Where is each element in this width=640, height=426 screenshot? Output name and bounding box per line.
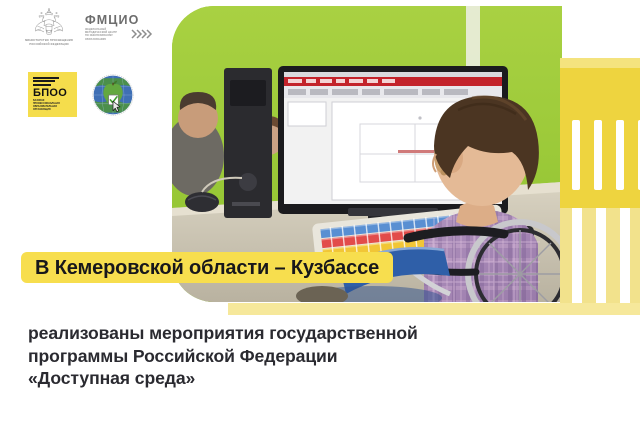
fmcio-subtitle-row: ФЕДЕРАЛЬНЫЙ МЕТОДИЧЕСКИЙ ЦЕНТР ПО ИНКЛЮЗ… xyxy=(85,28,153,41)
headline-highlight: В Кемеровской области – Кузбассе xyxy=(21,252,393,283)
fmcio-subtitle: ФЕДЕРАЛЬНЫЙ МЕТОДИЧЕСКИЙ ЦЕНТР ПО ИНКЛЮЗ… xyxy=(85,28,129,41)
body-copy: реализованы мероприятия государственной … xyxy=(28,322,588,390)
fmcio-logo: ФМЦИО ФЕДЕРАЛЬНЫЙ МЕТОДИЧЕСКИЙ ЦЕНТР ПО … xyxy=(85,8,153,41)
double-headed-eagle-emblem-icon xyxy=(29,8,69,38)
pale-yellow-band xyxy=(228,303,640,315)
globe-apple-checkbox-cursor-icon xyxy=(91,73,135,117)
bpoo-logo: БПОО БАЗОВАЯ ПРОФЕССИОНАЛЬНАЯ ОБРАЗОВАТЕ… xyxy=(28,72,77,117)
ministry-caption-line1: МИНИСТЕРСТВО ПРОСВЕЩЕНИЯ xyxy=(25,39,73,42)
logo-row-primary: МИНИСТЕРСТВО ПРОСВЕЩЕНИЯ РОССИЙСКОЙ ФЕДЕ… xyxy=(18,8,164,54)
logo-row-secondary: БПОО БАЗОВАЯ ПРОФЕССИОНАЛЬНАЯ ОБРАЗОВАТЕ… xyxy=(28,72,135,117)
body-line-2: программы Российской Федерации xyxy=(28,345,588,368)
logo-zone: МИНИСТЕРСТВО ПРОСВЕЩЕНИЯ РОССИЙСКОЙ ФЕДЕ… xyxy=(0,0,172,130)
body-line-1: реализованы мероприятия государственной xyxy=(28,322,588,345)
poster-canvas: МИНИСТЕРСТВО ПРОСВЕЩЕНИЯ РОССИЙСКОЙ ФЕДЕ… xyxy=(0,0,640,426)
bpoo-subtitle: БАЗОВАЯ ПРОФЕССИОНАЛЬНАЯ ОБРАЗОВАТЕЛЬНАЯ… xyxy=(33,100,71,112)
chevrons-right-icon xyxy=(131,28,153,40)
bpoo-subtitle-line2: ОБРАЗОВАТЕЛЬНАЯ ОРГАНИЗАЦИЯ xyxy=(33,106,71,112)
bpoo-bars-icon xyxy=(33,77,59,88)
decorative-yellow-stripes xyxy=(560,58,640,320)
ministry-logo: МИНИСТЕРСТВО ПРОСВЕЩЕНИЯ РОССИЙСКОЙ ФЕДЕ… xyxy=(18,8,80,47)
ministry-caption-line2: РОССИЙСКОЙ ФЕДЕРАЦИИ xyxy=(29,43,68,46)
fmcio-title: ФМЦИО xyxy=(85,14,153,27)
headline-text: В Кемеровской области – Кузбассе xyxy=(35,258,379,278)
yellow-comb-icon xyxy=(560,58,640,320)
bpoo-title: БПОО xyxy=(33,88,77,99)
fmcio-subtitle-line4: ОБРАЗОВАНИЮ xyxy=(85,38,129,41)
body-line-3: «Доступная среда» xyxy=(28,367,588,390)
